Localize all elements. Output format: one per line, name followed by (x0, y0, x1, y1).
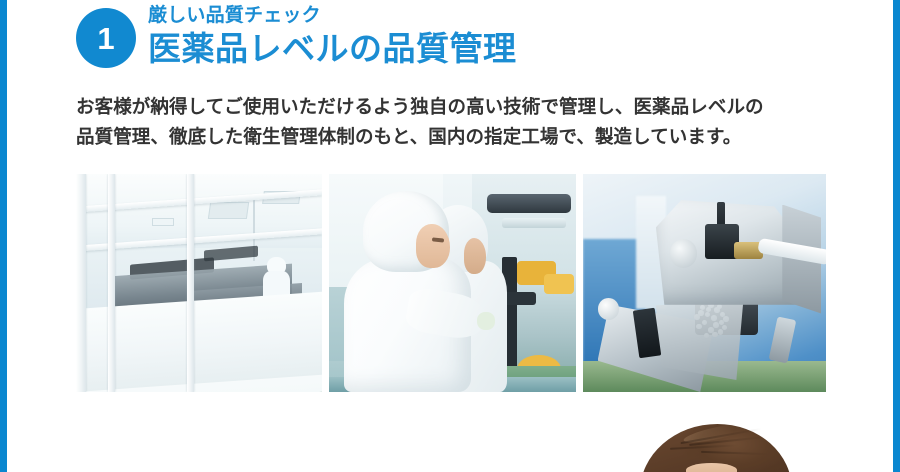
photo-gallery (76, 174, 826, 392)
forehead (686, 463, 738, 472)
quality-management-section: 1 厳しい品質チェック 医薬品レベルの品質管理 お客様が納得してご使用いただける… (0, 0, 900, 472)
photo-cleanroom-line (76, 174, 322, 392)
section-header: 1 厳しい品質チェック 医薬品レベルの品質管理 (76, 4, 517, 68)
right-blue-rail (893, 0, 900, 472)
page-title: 医薬品レベルの品質管理 (148, 29, 517, 69)
section-kicker: 厳しい品質チェック (148, 5, 517, 27)
photo-tablet-machine (583, 174, 826, 392)
worker-front-figure (344, 191, 482, 392)
left-blue-rail (0, 0, 7, 472)
description-line-2: 品質管理、徹底した衛生管理体制のもと、国内の指定工場で、製造しています。 (76, 122, 846, 152)
description-line-1: お客様が納得してご使用いただけるよう独自の高い技術で管理し、医薬品レベルの (76, 92, 846, 122)
cleanroom-scene (76, 174, 322, 392)
photo-workers-inspecting (329, 174, 576, 392)
section-description: お客様が納得してご使用いただけるよう独自の高い技術で管理し、医薬品レベルの 品質… (76, 92, 846, 152)
person-head-peeking (640, 424, 792, 472)
tablet-machine-scene (583, 174, 826, 392)
heading-stack: 厳しい品質チェック 医薬品レベルの品質管理 (148, 4, 517, 68)
workers-scene (329, 174, 576, 392)
step-number-badge: 1 (76, 8, 136, 68)
